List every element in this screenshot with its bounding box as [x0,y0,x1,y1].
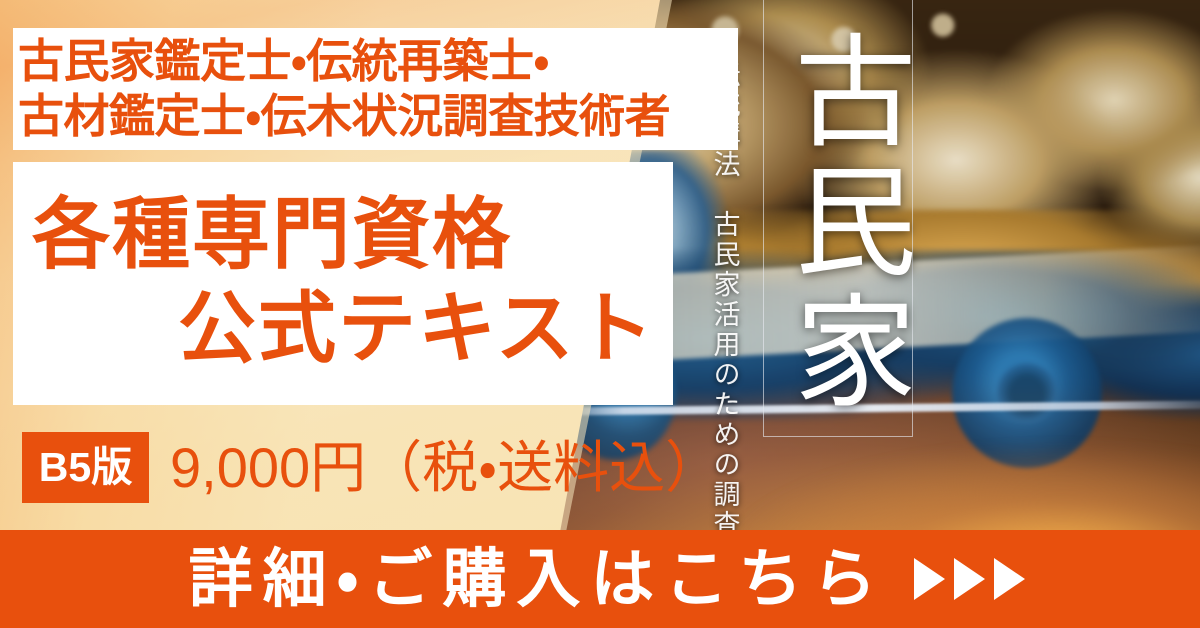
qualifications-line-2: 古材鑑定士・伝木状況調査技術者 [18,89,734,144]
triangle-right-icon [914,558,945,600]
cta-arrows [914,558,1025,600]
triangle-right-icon [954,558,985,600]
main-title: 各種専門資格 公式テキスト [18,168,678,400]
qualifications-line-1: 古民家鑑定士・伝統再築士・ [18,34,734,89]
cta-inner[interactable]: 詳細・ご購入はこちら [175,544,1026,614]
book-cover-title-block: 古民家 [766,8,908,438]
main-title-line-2: 公式テキスト [178,280,656,376]
format-badge: B5版 [22,432,149,503]
cta-bar[interactable]: 詳細・ご購入はこちら [0,530,1200,628]
promo-banner[interactable]: 伝統構法 古民家活用のための調査と再生の 古民家 古民家鑑定士・伝統再築士・ 古… [0,0,1200,628]
price-row: B5版 9,000円（税・送料込） [0,405,700,531]
format-badge-label: B5版 [39,447,132,488]
triangle-right-icon [994,558,1025,600]
cta-label: 詳細・ご購入はこちら [189,544,887,614]
price-amount: 9,000円（税・送料込） [170,437,721,499]
main-title-line-1: 各種専門資格 [32,186,512,282]
book-cover-title: 古民家 [779,28,908,418]
qualifications-text: 古民家鑑定士・伝統再築士・ 古材鑑定士・伝木状況調査技術者 [18,32,734,146]
